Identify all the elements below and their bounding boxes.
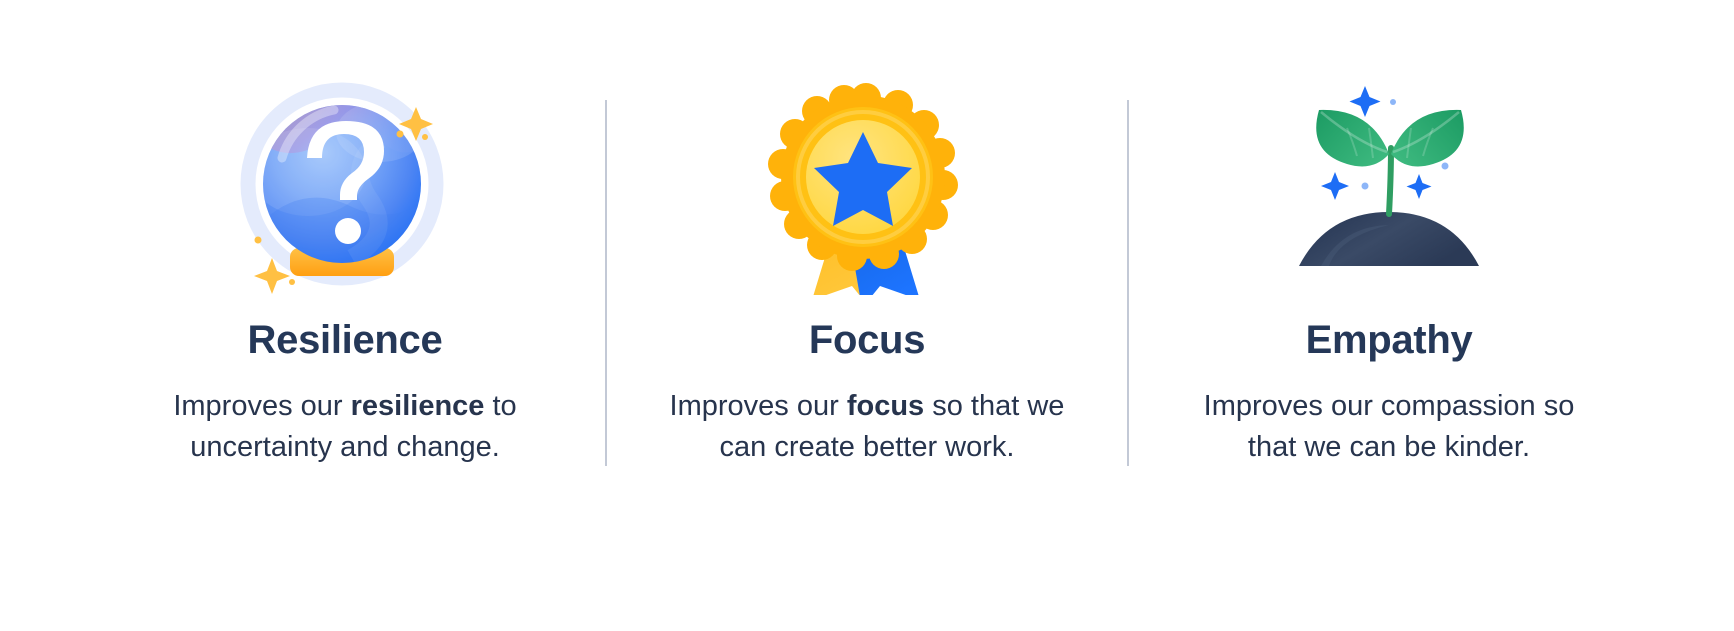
crystal-ball-icon — [230, 72, 460, 302]
value-description: Improves our resilience to uncertainty a… — [145, 386, 545, 468]
desc-bold: resilience — [351, 390, 485, 422]
value-column-resilience: Resilience Improves our resilience to un… — [85, 0, 605, 631]
desc-prefix: Improves our — [670, 390, 847, 422]
desc-prefix: Improves our — [173, 390, 350, 422]
award-medal-icon — [752, 72, 982, 302]
value-column-empathy: Empathy Improves our compassion so that … — [1129, 0, 1649, 631]
value-column-focus: Focus Improves our focus so that we can … — [607, 0, 1127, 631]
page-title: Resilience — [248, 320, 443, 360]
value-description: Improves our focus so that we can create… — [667, 386, 1067, 468]
page-title: Empathy — [1306, 320, 1473, 360]
desc-prefix: Improves our compassion so that we can b… — [1204, 390, 1575, 463]
desc-bold: focus — [847, 390, 924, 422]
sprout-plant-icon — [1269, 72, 1509, 302]
values-columns-board: Resilience Improves our resilience to un… — [0, 0, 1734, 631]
page-title: Focus — [809, 320, 925, 360]
value-description: Improves our compassion so that we can b… — [1189, 386, 1589, 468]
